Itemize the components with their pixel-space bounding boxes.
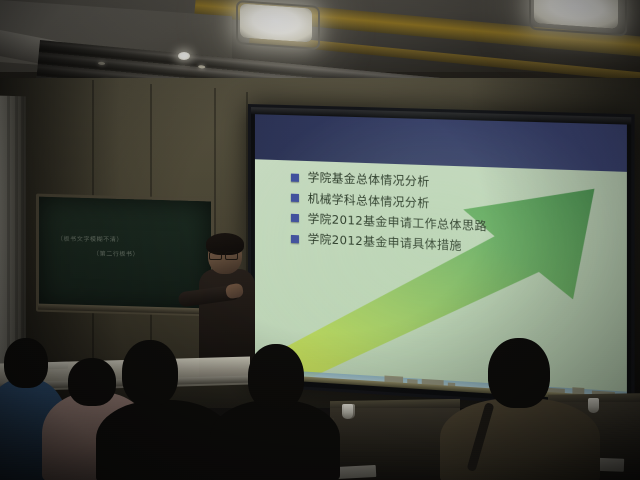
slide-bullet-text: 学院2012基金申请工作总体思路 [308,212,487,233]
paper-cup [344,404,355,419]
photo-scene: （板书文字模糊不清） （第二行板书） [0,0,640,480]
slide-bullet-list: 学院基金总体情况分析 机械学科总体情况分析 学院2012基金申请工作总体思路 学… [291,171,604,267]
bullet-square-icon [291,235,299,243]
ceiling-downlight [178,52,190,60]
audience-member-2-head [68,358,116,406]
presentation-slide: 学院基金总体情况分析 机械学科总体情况分析 学院2012基金申请工作总体思路 学… [255,114,627,402]
bullet-square-icon [291,174,299,182]
slide-bullet-text: 机械学科总体情况分析 [308,192,430,210]
audience-member-5-head [488,338,550,408]
audience-member-3-head [122,340,178,406]
blackboard-chalk-line: （第二行板书） [93,249,139,258]
bullet-square-icon [291,214,299,222]
audience-member-4-head [248,344,304,410]
slide-bullet-text: 学院2012基金申请具体措施 [308,233,462,253]
desk-paper [46,362,68,370]
slide-bullet-text: 学院基金总体情况分析 [308,172,430,190]
presenter-glasses [225,252,238,260]
paper-cup [588,398,599,413]
presenter-glasses-bridge [220,254,225,255]
blackboard-chalk-line: （板书文字模糊不清） [57,234,123,244]
audience-member-5 [440,398,600,480]
audience-member-1-head [4,338,48,388]
ceiling-light-left-frame [236,0,320,50]
desk-paper [336,465,377,479]
audience-member-4 [210,400,340,480]
bullet-square-icon [291,194,299,202]
projection-screen: 学院基金总体情况分析 机械学科总体情况分析 学院2012基金申请工作总体思路 学… [248,104,635,411]
